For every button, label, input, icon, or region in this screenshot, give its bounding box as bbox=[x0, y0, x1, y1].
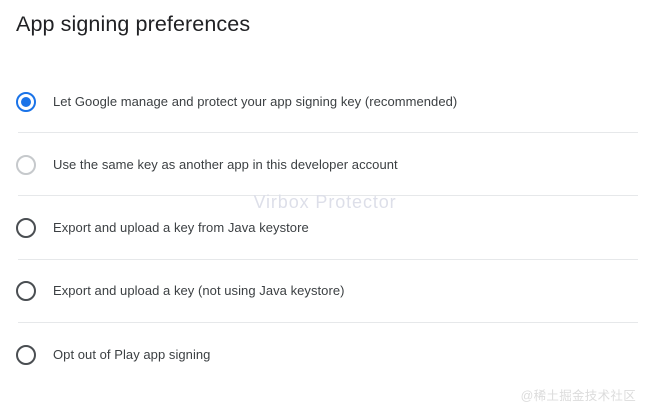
page-title: App signing preferences bbox=[16, 9, 250, 39]
radio-group-app-signing: Let Google manage and protect your app s… bbox=[0, 70, 650, 387]
app-signing-preferences-page: App signing preferences Let Google manag… bbox=[0, 0, 650, 413]
radio-option-label: Opt out of Play app signing bbox=[53, 346, 210, 364]
watermark-juejin-community: @稀土掘金技术社区 bbox=[521, 385, 636, 404]
radio-icon-selected[interactable] bbox=[16, 92, 36, 112]
radio-icon-disabled bbox=[16, 155, 36, 175]
radio-option-same-key-another-app[interactable]: Use the same key as another app in this … bbox=[0, 133, 650, 196]
radio-option-opt-out[interactable]: Opt out of Play app signing bbox=[0, 323, 650, 386]
radio-option-export-from-java-keystore[interactable]: Export and upload a key from Java keysto… bbox=[0, 196, 650, 259]
radio-option-google-managed[interactable]: Let Google manage and protect your app s… bbox=[0, 70, 650, 133]
radio-icon-unselected[interactable] bbox=[16, 281, 36, 301]
radio-option-label: Export and upload a key (not using Java … bbox=[53, 282, 345, 300]
radio-icon-unselected[interactable] bbox=[16, 345, 36, 365]
radio-option-label: Export and upload a key from Java keysto… bbox=[53, 219, 309, 237]
radio-option-label: Let Google manage and protect your app s… bbox=[53, 93, 457, 111]
radio-option-label: Use the same key as another app in this … bbox=[53, 156, 398, 174]
radio-option-export-not-java-keystore[interactable]: Export and upload a key (not using Java … bbox=[0, 260, 650, 323]
radio-icon-unselected[interactable] bbox=[16, 218, 36, 238]
